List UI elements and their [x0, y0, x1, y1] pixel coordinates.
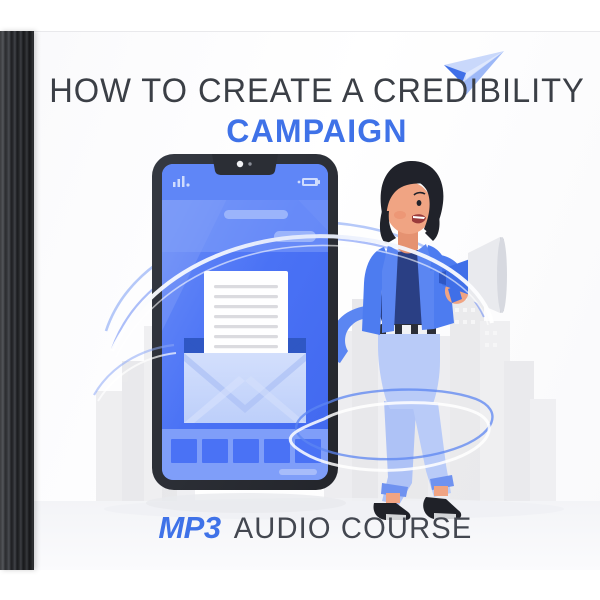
belt-detail-2	[402, 325, 411, 335]
proximity-sensor-icon	[248, 162, 251, 165]
cd-case-artwork: HOW TO CREATE A CREDIBILITY CAMPAIGN MP3…	[0, 0, 600, 600]
hips	[378, 334, 440, 409]
spine-highlight	[0, 31, 34, 570]
front-camera-icon	[237, 161, 243, 167]
jewel-case-spine	[0, 31, 34, 570]
cover-illustration	[34, 31, 600, 570]
ankle-front	[434, 486, 448, 496]
page-subtitle: CAMPAIGN	[34, 113, 600, 150]
placeholder-bar-1	[224, 210, 288, 219]
eye	[417, 200, 422, 206]
blush	[394, 211, 406, 219]
ankle-back	[386, 493, 400, 503]
cover-sheet: HOW TO CREATE A CREDIBILITY CAMPAIGN MP3…	[34, 31, 600, 570]
mp3-badge: MP3	[158, 510, 220, 545]
page-title: HOW TO CREATE A CREDIBILITY	[45, 72, 588, 111]
footer-label: AUDIO COURSE	[233, 512, 472, 546]
footer-credit: MP3AUDIO COURSE	[34, 510, 600, 546]
home-indicator	[279, 469, 317, 475]
phone-notch	[212, 154, 278, 175]
